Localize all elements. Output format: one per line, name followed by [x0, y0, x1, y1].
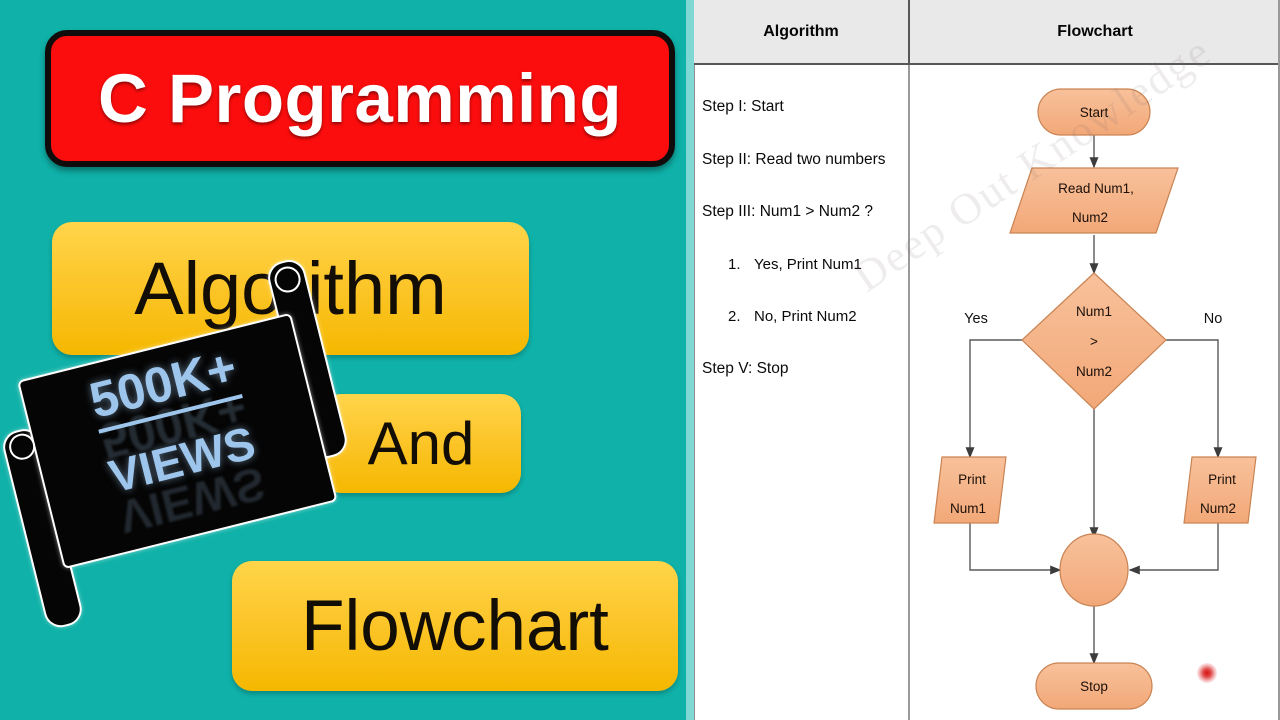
title-chip-c-programming: C Programming [45, 30, 675, 167]
algorithm-substep-number: 2. [728, 308, 754, 326]
flow-node-print2-line1: Print [1208, 472, 1236, 487]
flow-node-stop: Stop [1036, 663, 1152, 709]
flow-node-decision: Num1 > Num2 [1022, 273, 1166, 409]
algorithm-step: Step III: Num1 > Num2 ? [702, 203, 902, 222]
flow-node-print1-line1: Print [958, 472, 986, 487]
algorithm-column: Step I: Start Step II: Read two numbers … [694, 65, 908, 720]
chip-label-and: And [368, 409, 475, 478]
flow-node-read-label-line2: Num2 [1072, 210, 1108, 225]
flow-node-print2-line2: Num2 [1200, 501, 1236, 516]
screenshot-root: C Programming Algorithm And Flowchart 50… [0, 0, 1280, 720]
column-header-algorithm: Algorithm [694, 0, 908, 63]
views-count: 500K+ [85, 341, 243, 433]
table-header-row: Algorithm Flowchart [694, 0, 1280, 65]
algorithm-substep-text: Yes, Print Num1 [754, 256, 862, 273]
flow-branch-label-no: No [1204, 311, 1223, 327]
flow-node-decision-line2: > [1090, 334, 1098, 349]
flow-node-print2: Print Num2 [1184, 457, 1256, 523]
flow-node-start: Start [1038, 89, 1150, 135]
flow-branch-label-yes: Yes [964, 311, 988, 327]
flow-node-decision-line1: Num1 [1076, 304, 1112, 319]
algorithm-step: Step II: Read two numbers [702, 151, 902, 170]
views-label: VIEWS [104, 419, 259, 499]
flow-node-read-label-line1: Read Num1, [1058, 181, 1134, 196]
algorithm-substep-number: 1. [728, 256, 754, 274]
panel-edge-strip [686, 0, 694, 720]
flowchart-column: Start Read Num1, Num2 Num1 > Num2 Yes [910, 65, 1280, 720]
flow-node-merge [1060, 534, 1128, 606]
algorithm-substep-text: No, Print Num2 [754, 308, 857, 325]
flow-node-stop-label: Stop [1080, 679, 1108, 694]
flow-node-start-label: Start [1080, 105, 1109, 120]
flow-node-print1: Print Num1 [934, 457, 1006, 523]
column-header-flowchart: Flowchart [910, 0, 1280, 63]
chip-label-flowchart: Flowchart [301, 586, 609, 667]
views-badge: 500K+ 500K+ VIEWS VIEWS [0, 308, 356, 572]
chip-label-c-programming: C Programming [98, 59, 622, 138]
algorithm-substep: 1.Yes, Print Num1 [728, 256, 902, 274]
flow-node-decision-line3: Num2 [1076, 364, 1112, 379]
algorithm-step: Step V: Stop [702, 360, 902, 379]
flow-node-print1-line2: Num1 [950, 501, 986, 516]
header-divider [908, 0, 910, 65]
algorithm-substep: 2.No, Print Num2 [728, 308, 902, 326]
flow-node-read: Read Num1, Num2 [1010, 168, 1178, 233]
thumbnail-panel: C Programming Algorithm And Flowchart 50… [0, 0, 692, 720]
flowchart-diagram: Start Read Num1, Num2 Num1 > Num2 Yes [910, 65, 1280, 720]
comparison-table: Algorithm Flowchart Step I: Start Step I… [694, 0, 1280, 720]
algorithm-step: Step I: Start [702, 98, 902, 117]
title-chip-flowchart: Flowchart [232, 561, 678, 691]
